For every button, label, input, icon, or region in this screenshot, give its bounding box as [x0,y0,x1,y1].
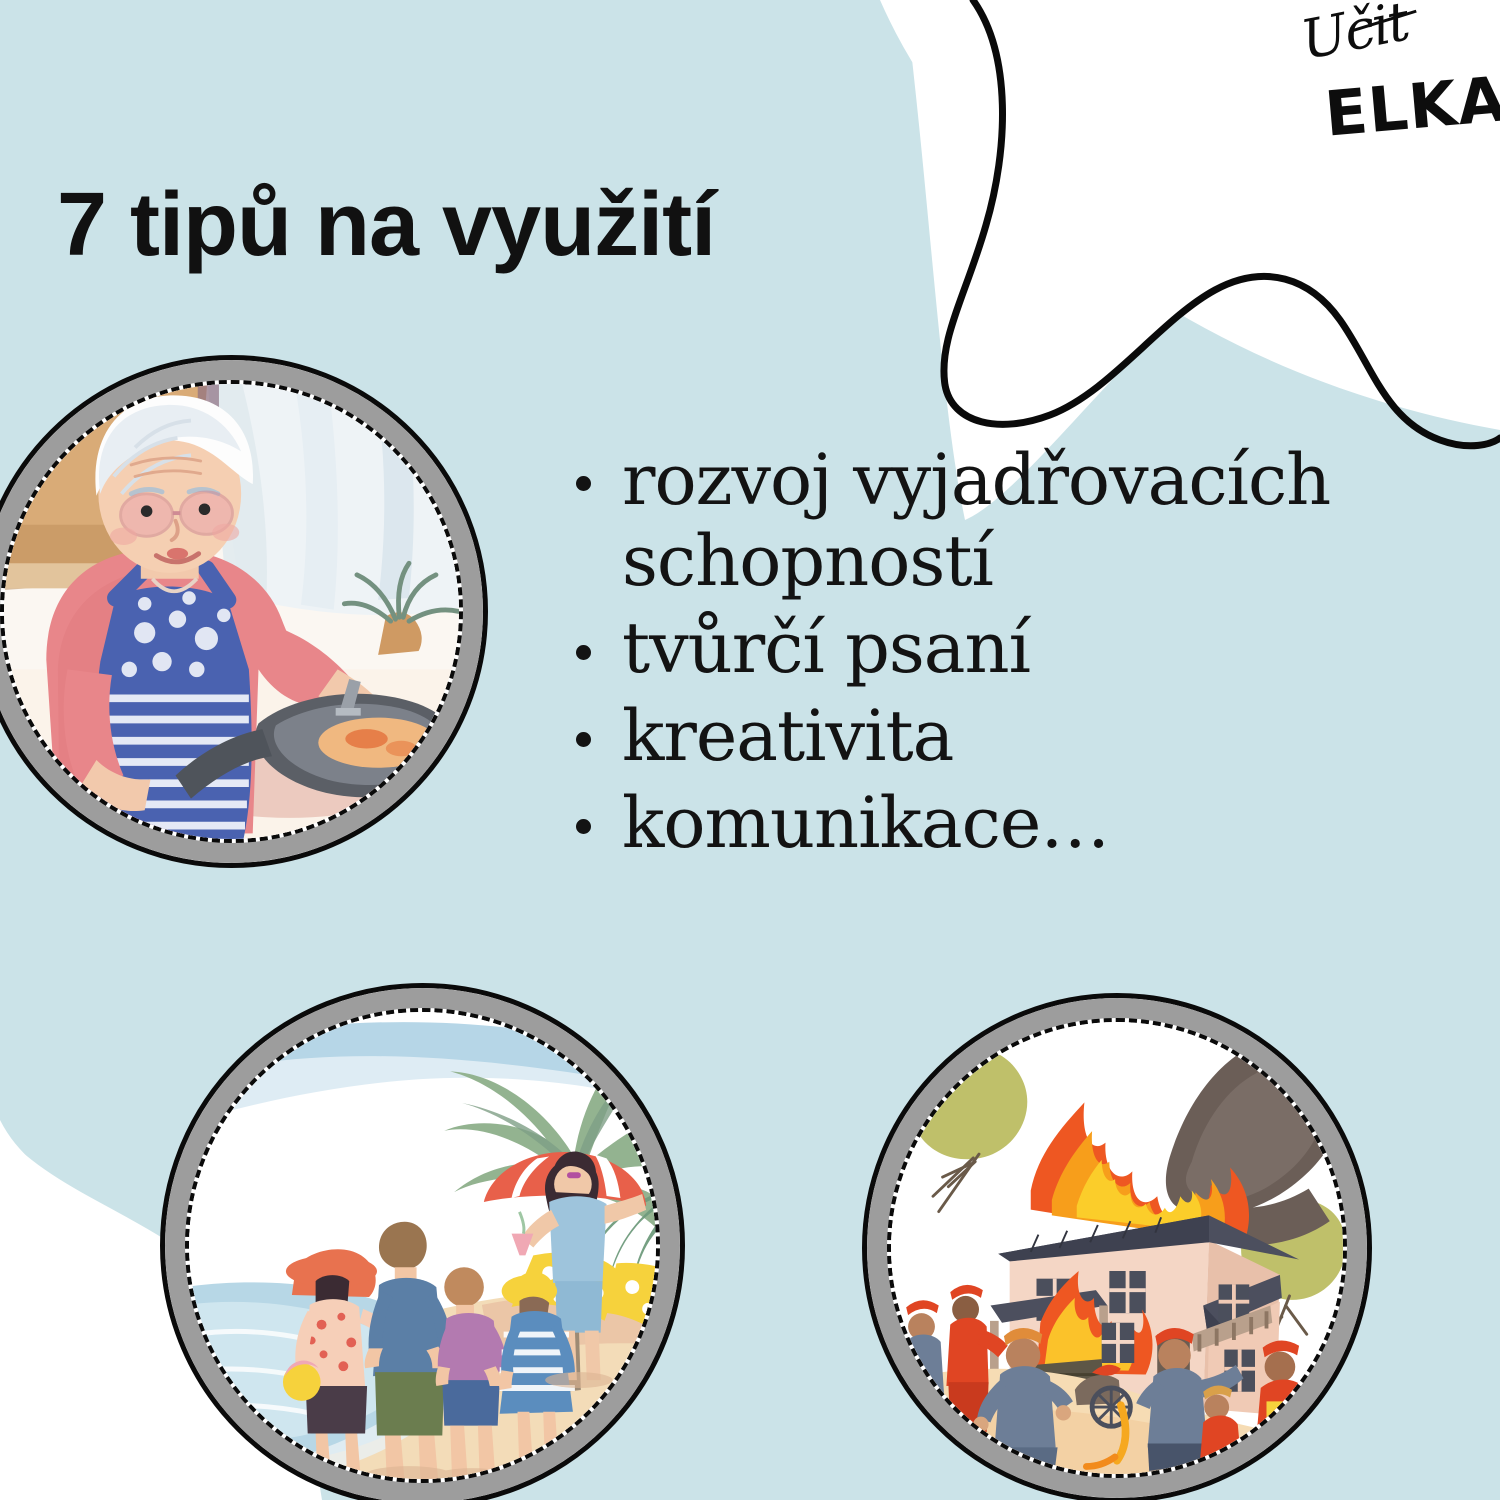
photo-circle-house-fire [862,993,1372,1500]
illustration-house-fire [887,1018,1347,1478]
list-item: rozvoj vyjadřovacích schopností [566,440,1476,602]
list-item: tvůrčí psaní [566,608,1476,689]
page-title: 7 tipů na využití [57,178,715,273]
benefits-list: rozvoj vyjadřovacích schopností tvůrčí p… [566,440,1476,870]
photo-inner-dashed-border [185,1008,660,1483]
poster-canvas: 7 tipů na využití Učit ELKA rozvoj vyjad… [0,0,1500,1500]
brand-logo[interactable]: Učit ELKA [1278,6,1500,156]
logo-script-text: Učit [1296,0,1413,72]
photo-inner-dashed-border [887,1018,1347,1478]
logo-bold-text: ELKA [1322,62,1500,151]
illustration-family-beach [185,1008,660,1483]
list-item: kreativita [566,696,1476,777]
list-item: komunikace… [566,783,1476,864]
photo-circle-family-beach [160,983,685,1500]
illustration-grandma-cooking [0,380,463,843]
photo-inner-dashed-border [0,380,463,843]
